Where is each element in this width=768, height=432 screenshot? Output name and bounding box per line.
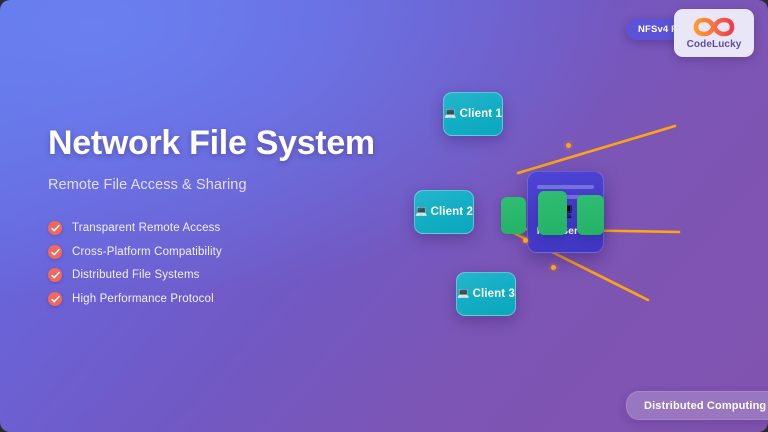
- page-title: Network File System: [48, 126, 428, 162]
- list-item-label: Cross-Platform Compatibility: [72, 246, 222, 258]
- list-item: Transparent Remote Access: [48, 217, 428, 241]
- data-packet-dot: [551, 265, 556, 270]
- storage-block: [538, 191, 567, 235]
- list-item-label: Distributed File Systems: [72, 269, 200, 281]
- logo-label: CodeLucky: [687, 39, 742, 50]
- list-item: Cross-Platform Compatibility: [48, 240, 428, 264]
- node-client-2[interactable]: 💻 Client 2: [414, 190, 474, 234]
- node-client-3[interactable]: 💻 Client 3: [456, 272, 516, 316]
- wire-upper-right: [518, 126, 675, 173]
- node-label: Client 1: [460, 108, 502, 120]
- check-circle-icon: [48, 221, 62, 235]
- page-subtitle: Remote File Access & Sharing: [48, 177, 428, 193]
- infinity-icon: [693, 16, 735, 38]
- network-diagram: 💻 Client 1 💻 Client 2 💻 Client 3 🖥 NFS S…: [390, 60, 768, 360]
- feature-list: Transparent Remote Access Cross-Platform…: [48, 217, 428, 311]
- check-circle-icon: [48, 268, 62, 282]
- node-client-1[interactable]: 💻 Client 1: [443, 92, 503, 136]
- check-circle-icon: [48, 245, 62, 259]
- list-item: High Performance Protocol: [48, 287, 428, 311]
- list-item-label: High Performance Protocol: [72, 293, 214, 305]
- storage-block: [501, 197, 526, 234]
- slide-canvas: Network File System Remote File Access &…: [0, 0, 768, 432]
- laptop-icon: 💻: [415, 207, 428, 217]
- logo-card[interactable]: CodeLucky: [674, 9, 754, 57]
- list-item-label: Transparent Remote Access: [72, 222, 220, 234]
- data-packet-dot: [523, 238, 528, 243]
- server-card-bar: [537, 185, 594, 189]
- left-content-column: Network File System Remote File Access &…: [48, 126, 428, 311]
- storage-block: [577, 195, 604, 235]
- check-circle-icon: [48, 292, 62, 306]
- topic-badge: Distributed Computing: [626, 391, 768, 420]
- node-label: Client 3: [473, 288, 515, 300]
- node-label: Client 2: [431, 206, 473, 218]
- data-packet-dot: [566, 143, 571, 148]
- list-item: Distributed File Systems: [48, 264, 428, 288]
- laptop-icon: 💻: [457, 289, 470, 299]
- laptop-icon: 💻: [444, 109, 457, 119]
